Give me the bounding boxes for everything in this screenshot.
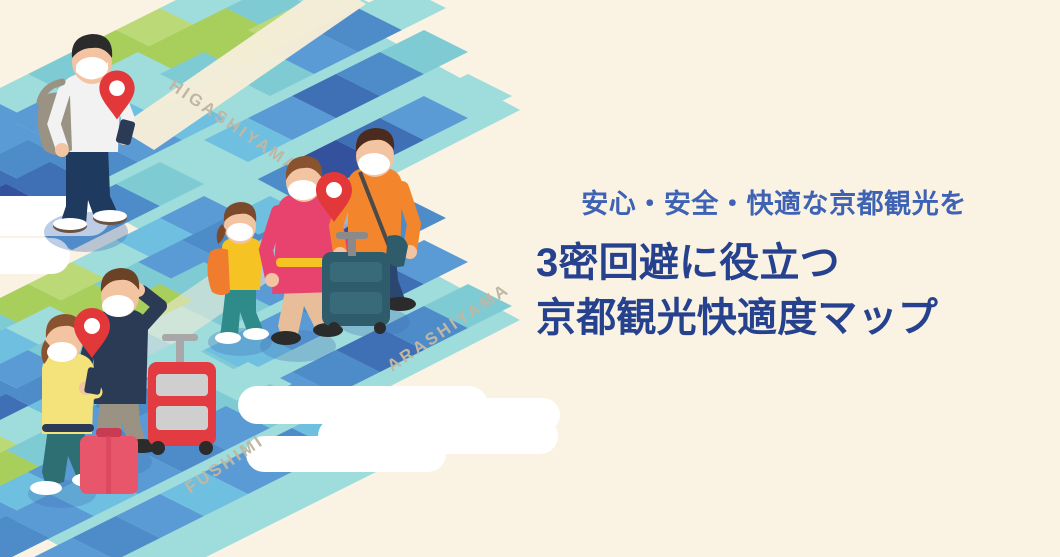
headline-text: 3密回避に役立つ 京都観光快適度マップ: [536, 236, 1006, 345]
suitcase-small-pink: [80, 428, 138, 494]
isometric-map-illustration: HIGASHIYAMA ARASHIYAMA FUSHIMI: [0, 0, 560, 557]
banner-stage: HIGASHIYAMA ARASHIYAMA FUSHIMI: [0, 0, 1060, 557]
headline-line-1: 3密回避に役立つ: [536, 241, 840, 285]
headline-line-2: 京都観光快適度マップ: [536, 291, 1006, 345]
eyebrow-text: 安心・安全・快適な京都観光を: [536, 186, 1006, 222]
headline-copy-block: 安心・安全・快適な京都観光を 3密回避に役立つ 京都観光快適度マップ: [536, 186, 1006, 345]
